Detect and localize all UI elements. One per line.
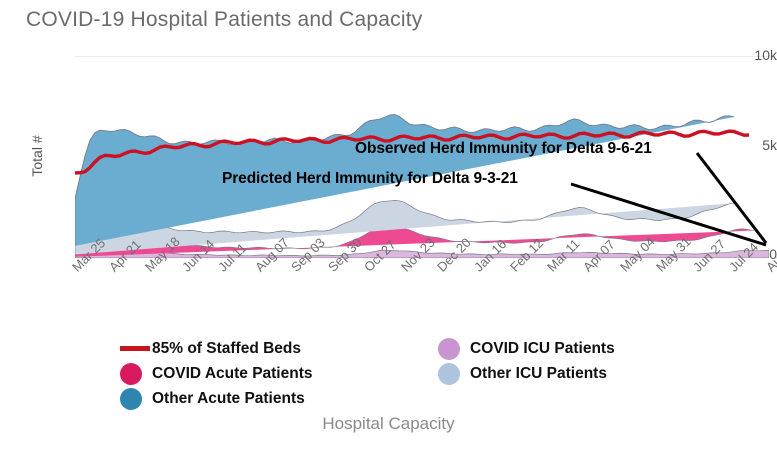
legend-dot-icon (120, 363, 142, 385)
legend-dot-icon (438, 338, 460, 360)
y-axis-label: Total # (29, 111, 45, 201)
legend-item[interactable]: 85% of Staffed Beds (120, 336, 313, 361)
chart-caption: Hospital Capacity (0, 414, 777, 434)
chart-page: COVID-19 Hospital Patients and Capacity … (0, 0, 777, 450)
x-axis: Mar 25Apr 21May 18Jun 14Jul 11Aug 07Sep … (0, 258, 777, 328)
legend-item-label: Other ICU Patients (470, 365, 607, 383)
annotation-predicted-herd-immunity: Predicted Herd Immunity for Delta 9-3-21 (222, 170, 518, 188)
legend-column-right: COVID ICU PatientsOther ICU Patients (438, 336, 615, 386)
chart-legend: 85% of Staffed BedsCOVID Acute PatientsO… (120, 336, 680, 412)
legend-dot-icon (438, 363, 460, 385)
legend-item-label: 85% of Staffed Beds (152, 340, 301, 358)
legend-dot-icon (120, 388, 142, 410)
legend-item[interactable]: COVID Acute Patients (120, 361, 313, 386)
legend-column-left: 85% of Staffed BedsCOVID Acute PatientsO… (120, 336, 313, 411)
legend-item-label: Other Acute Patients (152, 390, 305, 408)
legend-line-icon (120, 346, 150, 351)
legend-item-label: COVID Acute Patients (152, 365, 313, 383)
legend-item[interactable]: Other ICU Patients (438, 361, 615, 386)
legend-item[interactable]: Other Acute Patients (120, 386, 313, 411)
legend-item-label: COVID ICU Patients (470, 340, 615, 358)
annotation-observed-herd-immunity: Observed Herd Immunity for Delta 9-6-21 (355, 140, 652, 158)
page-title: COVID-19 Hospital Patients and Capacity (26, 8, 423, 32)
legend-item[interactable]: COVID ICU Patients (438, 336, 615, 361)
